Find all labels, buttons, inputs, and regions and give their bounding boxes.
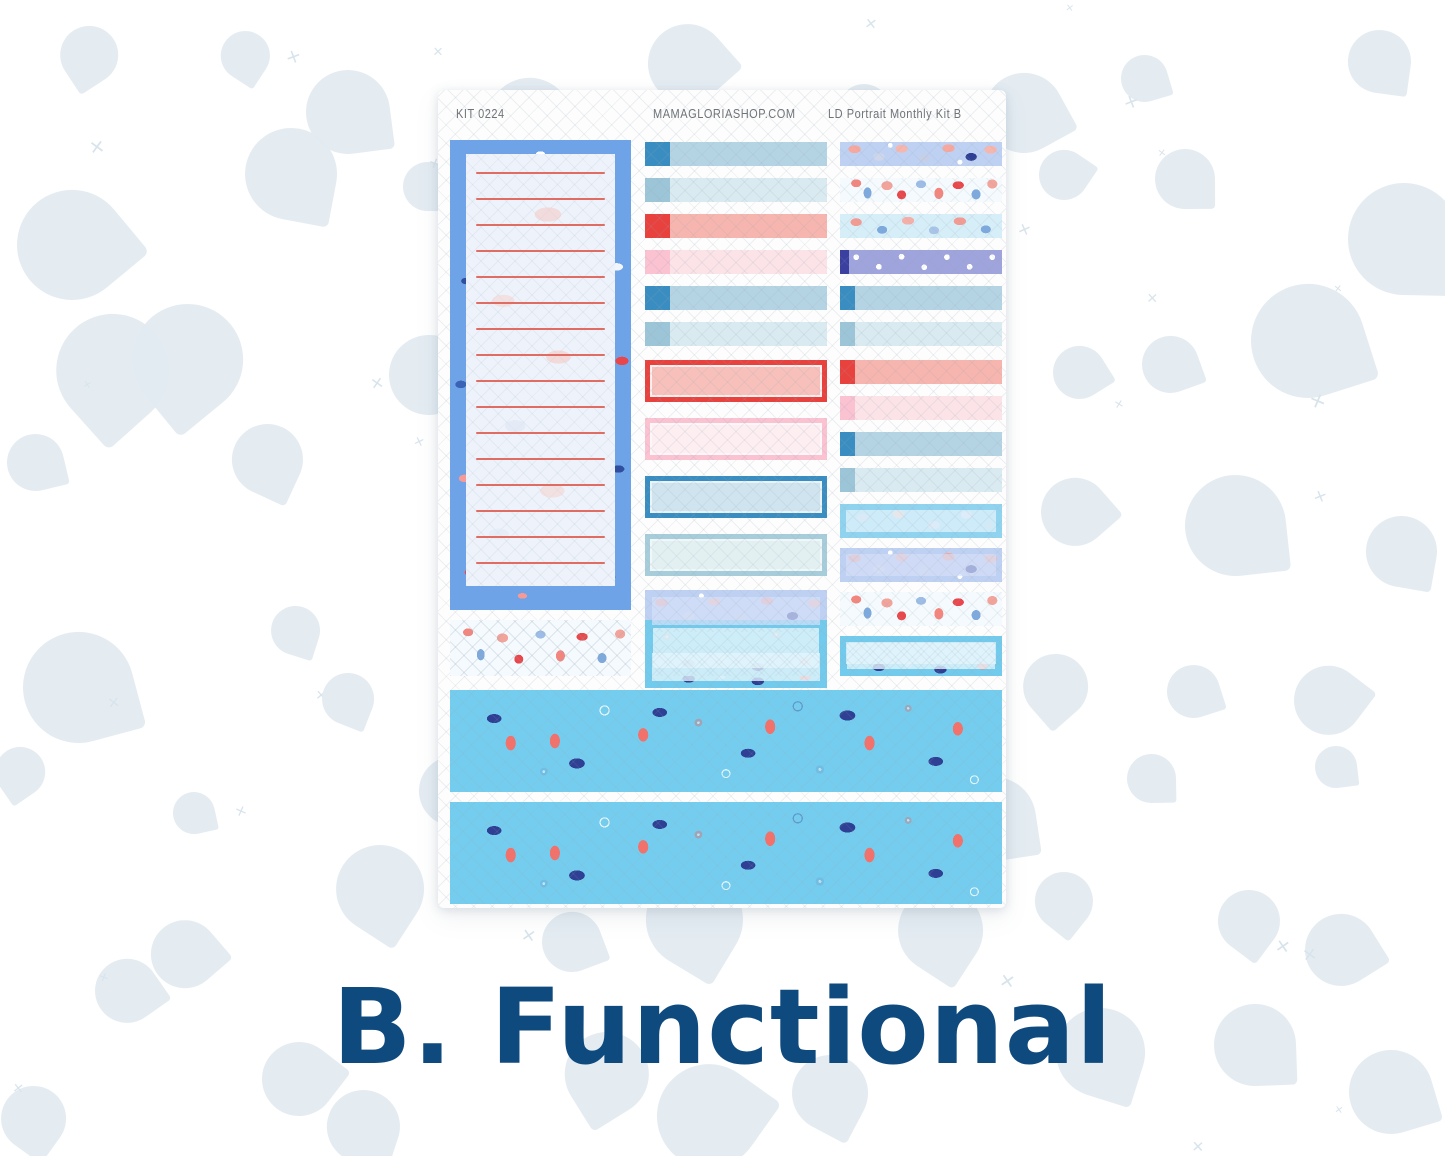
cross-icon: × <box>1113 397 1125 414</box>
heart-icon <box>1347 182 1445 296</box>
quarter-box-blue-dark-2[interactable] <box>840 432 1002 456</box>
heart-icon <box>1127 754 1177 804</box>
heart-icon <box>169 788 219 838</box>
heart-icon <box>1010 641 1102 733</box>
page-title: B. Functional <box>0 975 1445 1079</box>
heart-icon <box>1280 652 1376 748</box>
heart-icon <box>1029 140 1098 209</box>
bar-texture <box>645 250 827 274</box>
heart-icon <box>1180 470 1292 582</box>
cross-icon: × <box>520 923 537 948</box>
bar-texture <box>840 468 1002 492</box>
notepad-rule-line <box>476 510 604 512</box>
washi-pink-ice-bows[interactable] <box>840 214 1002 238</box>
cross-icon: × <box>412 433 427 452</box>
heart-icon <box>212 22 279 89</box>
half-box-red[interactable] <box>645 214 827 238</box>
bar-texture <box>645 286 827 310</box>
notepad-rule-line <box>476 276 604 278</box>
cross-icon: × <box>283 44 304 69</box>
quarter-box-blue-light-2[interactable] <box>840 468 1002 492</box>
heart-icon <box>265 600 327 662</box>
notepad-rule-line <box>476 406 604 408</box>
sheet-header: KIT 0224 MAMAGLORIASHOP.COM LD Portrait … <box>438 98 1006 130</box>
heart-icon <box>11 620 147 756</box>
notepad-paper <box>466 154 615 586</box>
cross-icon: × <box>107 692 121 713</box>
cross-icon: × <box>12 1080 24 1099</box>
bar-texture <box>645 322 827 346</box>
bar-texture <box>645 178 827 202</box>
frame-texture <box>645 476 827 518</box>
full-box-pink-frame[interactable] <box>645 418 827 460</box>
frame-texture <box>645 620 827 676</box>
heart-icon <box>314 665 382 733</box>
bar-texture <box>840 396 1002 420</box>
notepad-rule-line <box>476 328 604 330</box>
frame-texture <box>840 548 1002 582</box>
half-box-blue-light-2[interactable] <box>645 322 827 346</box>
box-firework-right[interactable] <box>840 636 1002 676</box>
notepad-rule-line <box>476 432 604 434</box>
notepad-rule-line <box>476 484 604 486</box>
washi-balloon-dog-1[interactable] <box>450 690 1002 792</box>
notepad-rule-line <box>476 354 604 356</box>
washi-texture <box>450 620 631 676</box>
cross-icon: × <box>433 43 443 60</box>
notepad-rule-line <box>476 172 604 174</box>
cross-icon: × <box>1310 485 1329 508</box>
heart-icon <box>0 737 55 807</box>
washi-texture <box>840 214 1002 238</box>
washi-texture <box>840 142 1002 166</box>
heart-icon <box>1023 860 1104 941</box>
bar-texture <box>840 432 1002 456</box>
quarter-box-pale-pattern[interactable] <box>840 504 1002 538</box>
lined-notepad-sticker[interactable] <box>450 140 631 610</box>
frame-texture <box>840 636 1002 676</box>
full-box-blue-frame[interactable] <box>645 476 827 518</box>
frame-texture <box>840 504 1002 538</box>
sticker-sheet: KIT 0224 MAMAGLORIASHOP.COM LD Portrait … <box>438 90 1006 908</box>
heart-icon <box>1115 49 1173 107</box>
washi-texture <box>840 178 1002 202</box>
heart-icon <box>220 412 314 506</box>
cross-icon: × <box>1274 934 1292 959</box>
notepad-rule-line <box>476 302 604 304</box>
box-firework-mid[interactable] <box>645 620 827 676</box>
half-box-blue-dark-2[interactable] <box>645 286 827 310</box>
heart-icon <box>1 428 70 497</box>
shop-url-label: MAMAGLORIASHOP.COM <box>653 107 796 121</box>
cross-icon: × <box>369 372 385 395</box>
washi-periwinkle-bows[interactable] <box>840 142 1002 166</box>
cross-icon: × <box>233 802 249 822</box>
bar-texture <box>840 360 1002 384</box>
heart-icon <box>0 1073 79 1156</box>
washi-icecream-flowers[interactable] <box>840 178 1002 202</box>
washi-navy-stars[interactable] <box>840 250 1002 274</box>
heart-icon <box>0 168 149 323</box>
cross-icon: × <box>864 14 878 35</box>
cross-icon: × <box>1121 89 1141 114</box>
full-box-red-frame[interactable] <box>645 360 827 402</box>
heart-icon <box>49 15 130 96</box>
cross-icon: × <box>1192 1137 1205 1156</box>
quarter-box-blue-light[interactable] <box>840 322 1002 346</box>
heart-icon <box>1313 744 1359 790</box>
cross-icon: × <box>1147 289 1158 308</box>
notepad-rule-line <box>476 380 604 382</box>
notepad-rule-line <box>476 562 604 564</box>
notepad-rule-line <box>476 250 604 252</box>
bar-texture <box>840 322 1002 346</box>
washi-balloon-dog-2[interactable] <box>450 802 1002 904</box>
heart-icon <box>1043 336 1116 409</box>
quarter-box-blue-dark[interactable] <box>840 286 1002 310</box>
frame-texture <box>645 418 827 460</box>
notepad-rule-line <box>476 198 604 200</box>
frame-texture <box>645 534 827 576</box>
bar-texture <box>840 286 1002 310</box>
kit-code-label: KIT 0224 <box>456 107 505 121</box>
cross-icon: × <box>1015 220 1033 243</box>
heart-icon <box>319 828 441 950</box>
frame-texture <box>645 360 827 402</box>
washi-texture <box>450 690 1002 792</box>
notepad-rule-line <box>476 224 604 226</box>
half-box-blue-light[interactable] <box>645 178 827 202</box>
half-box-blue-dark[interactable] <box>645 142 827 166</box>
washi-texture <box>840 592 1002 626</box>
kit-name-label: LD Portrait Monthly Kit B <box>828 107 962 121</box>
heart-icon <box>1360 510 1442 592</box>
heart-icon <box>1344 26 1415 97</box>
quarter-box-red[interactable] <box>840 360 1002 384</box>
cross-icon: × <box>1065 1 1074 15</box>
notepad-rule-lines <box>466 154 615 586</box>
washi-icecream-usa-bottom[interactable] <box>450 620 631 676</box>
washi-texture <box>840 250 1002 274</box>
full-box-teal-frame[interactable] <box>645 534 827 576</box>
cross-icon: × <box>88 135 106 161</box>
bar-texture <box>645 214 827 238</box>
cross-icon: × <box>1157 146 1166 160</box>
half-box-pink[interactable] <box>645 250 827 274</box>
washi-icecream-usa[interactable] <box>840 592 1002 626</box>
washi-texture <box>450 802 1002 904</box>
quarter-box-pink[interactable] <box>840 396 1002 420</box>
bar-texture <box>645 142 827 166</box>
cross-icon: × <box>1334 1102 1344 1117</box>
notepad-rule-line <box>476 458 604 460</box>
quarter-box-bow-pattern[interactable] <box>840 548 1002 582</box>
heart-icon <box>1027 464 1122 559</box>
heart-icon <box>1160 658 1227 725</box>
heart-icon <box>1134 328 1207 401</box>
notepad-rule-line <box>476 536 604 538</box>
